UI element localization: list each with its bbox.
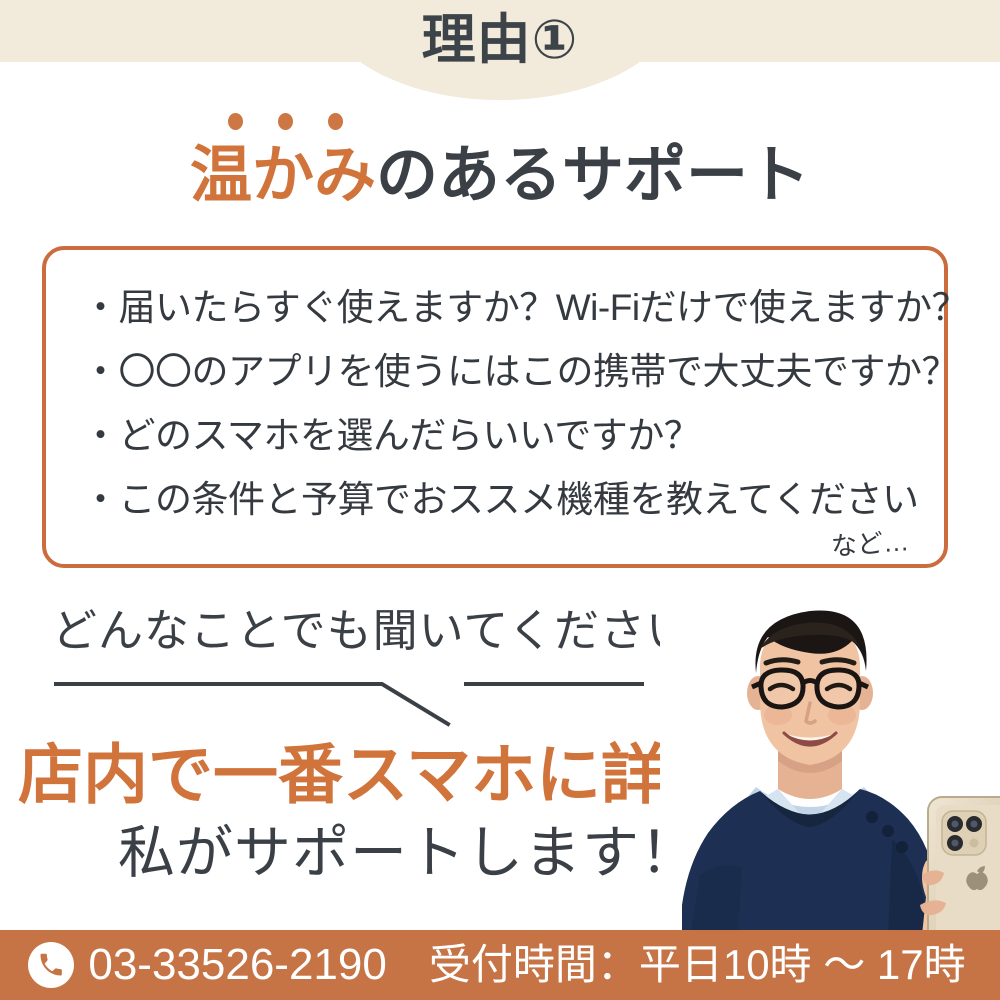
emphasis-dot [328,113,343,130]
staff-photo [660,575,1000,935]
section-title: 温かみのあるサポート [0,140,1000,212]
emphasis-dots [228,113,358,133]
header-title: 理由① [0,8,1000,72]
emphasis-dot [278,113,293,130]
business-hours: 受付時間：平日10時 〜 17時 [429,940,966,990]
speech-text: どんなことでも聞いてください！ [52,602,738,660]
footer-content: 03-33526-2190 受付時間：平日10時 〜 17時 [0,930,1000,1000]
section-title-rest: のあるサポート [376,141,810,210]
emphasis-dot [228,113,243,130]
poster-root: 理由① 温かみのあるサポート ・届いたらすぐ使えますか？Wi-Fiだけで使えます… [0,0,1000,1000]
list-item: ・届いたらすぐ使えますか？Wi-Fiだけで使えますか？ [82,276,924,340]
list-item: ・この条件と予算でおススメ機種を教えてください [82,468,924,532]
section-title-highlight: 温かみ [190,141,376,210]
question-list: ・届いたらすぐ使えますか？Wi-Fiだけで使えますか？ ・〇〇のアプリを使うには… [82,276,924,532]
etc-note: など… [830,526,910,561]
phone-icon [28,942,74,988]
question-box: ・届いたらすぐ使えますか？Wi-Fiだけで使えますか？ ・〇〇のアプリを使うには… [42,246,948,568]
headline-secondary: 私がサポートします！ [118,818,698,888]
list-item: ・どのスマホを選んだらいいですか？ [82,404,924,468]
list-item: ・〇〇のアプリを使うにはこの携帯で大丈夫ですか？ [82,340,924,404]
phone-number[interactable]: 03-33526-2190 [88,940,386,990]
footer-bar: 03-33526-2190 受付時間：平日10時 〜 17時 [0,930,1000,1000]
speech-underline-rule [50,668,650,728]
